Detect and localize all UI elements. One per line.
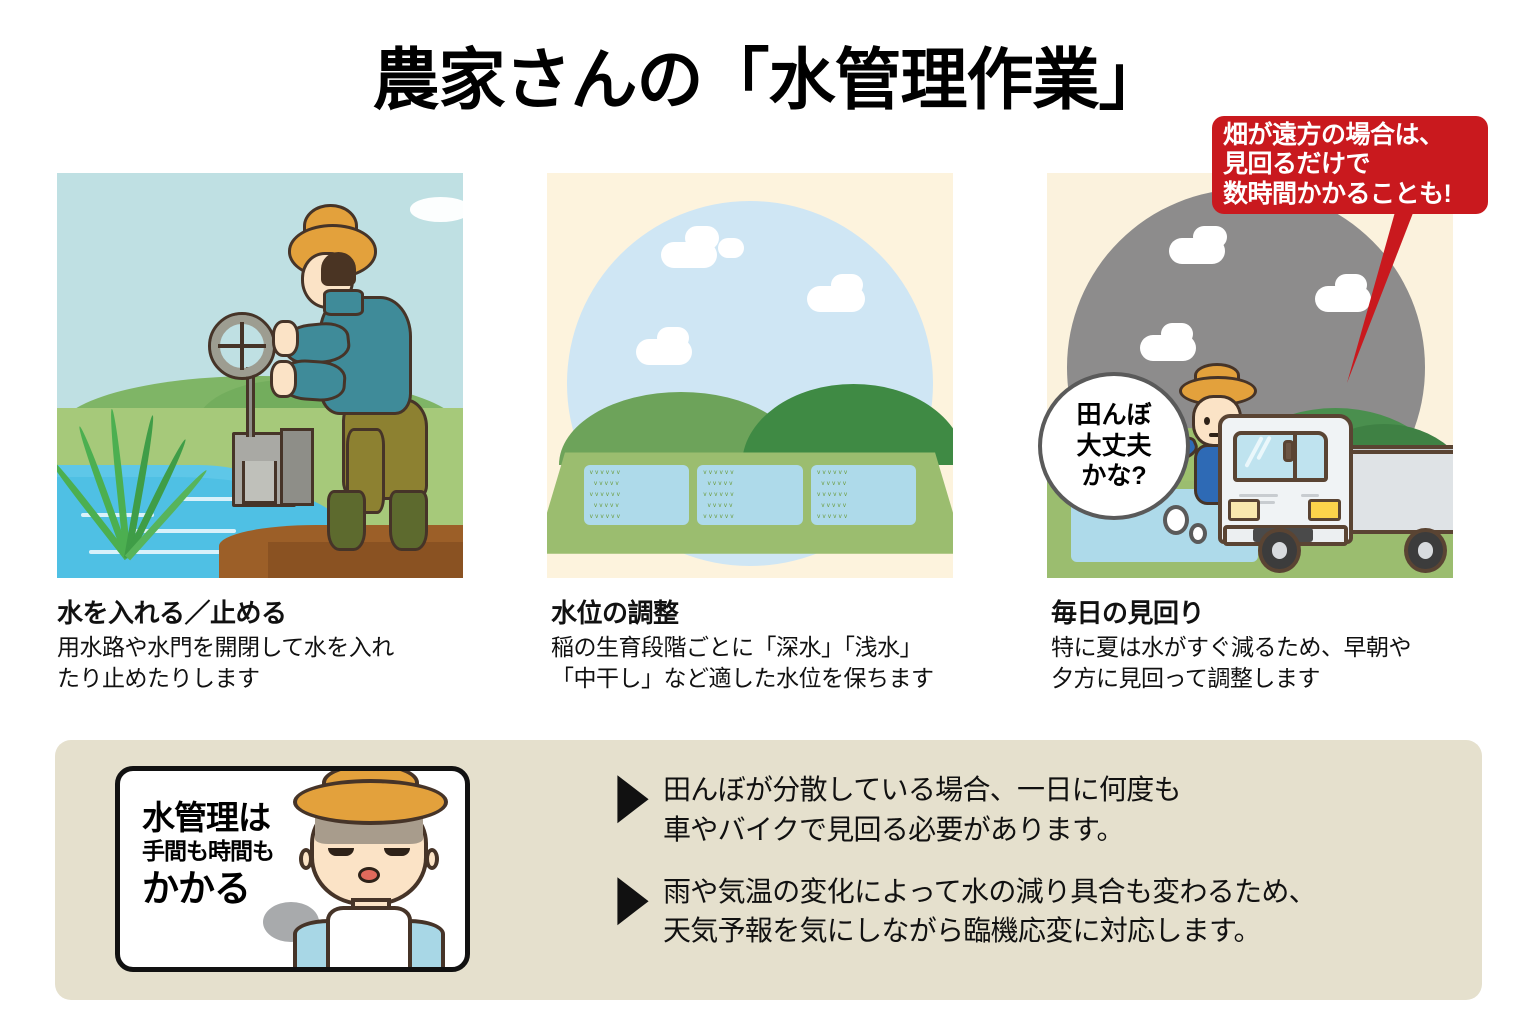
page-title: 農家さんの「水管理作業」 — [0, 44, 1537, 118]
caption-water-inlet: 水を入れる／止める 用水路や水門を開閉して水を入れ たり止めたりします — [57, 597, 487, 695]
paddy-plot: ᵛ ᵛ ᵛ ᵛ ᵛ ᵛ ᵛ ᵛ ᵛ ᵛ ᵛ ᵛ ᵛ ᵛ ᵛ ᵛ ᵛ ᵛ ᵛ ᵛ … — [584, 465, 690, 526]
cloud-icon — [657, 327, 689, 349]
thought-bubble: 田んぼ 大丈夫 かな? — [1038, 372, 1190, 520]
bottom-summary-panel: 水管理は 手間も時間も かかる — [55, 740, 1482, 1000]
bullet-text: 田んぼが分散している場合、一日に何度も 車やバイクで見回る必要があります。 — [663, 770, 1181, 850]
panel-image-water-inlet — [57, 173, 463, 578]
caption-body: 用水路や水門を開閉して水を入れ たり止めたりします — [57, 632, 487, 695]
triangle-right-icon — [615, 876, 651, 926]
cloud-icon — [685, 226, 719, 250]
thought-bubble-text: 田んぼ 大丈夫 かな? — [1076, 400, 1151, 492]
cloud-icon — [1161, 323, 1193, 345]
caption-daily-patrol: 毎日の見回り 特に夏は水がすぐ減るため、早朝や 夕方に見回って調整します — [1051, 597, 1481, 695]
infographic-root: 農家さんの「水管理作業」 — [0, 0, 1537, 1024]
callout-text: 畑が遠方の場合は、 見回るだけで 数時間かかることも! — [1223, 121, 1451, 210]
list-item: 田んぼが分散している場合、一日に何度も 車やバイクで見回る必要があります。 — [615, 770, 1455, 850]
caption-body: 特に夏は水がすぐ減るため、早朝や 夕方に見回って調整します — [1051, 632, 1481, 695]
caption-title: 水を入れる／止める — [57, 597, 487, 630]
thought-bubble-dot — [1189, 523, 1207, 544]
callout-remote-field: 畑が遠方の場合は、 見回るだけで 数時間かかることも! — [1212, 116, 1488, 214]
paddy-plot: ᵛ ᵛ ᵛ ᵛ ᵛ ᵛ ᵛ ᵛ ᵛ ᵛ ᵛ ᵛ ᵛ ᵛ ᵛ ᵛ ᵛ ᵛ ᵛ ᵛ … — [811, 465, 917, 526]
paddy-plot: ᵛ ᵛ ᵛ ᵛ ᵛ ᵛ ᵛ ᵛ ᵛ ᵛ ᵛ ᵛ ᵛ ᵛ ᵛ ᵛ ᵛ ᵛ ᵛ ᵛ … — [697, 465, 803, 526]
rice-plant-icon — [65, 376, 187, 558]
tired-farmer-illustration — [279, 769, 459, 972]
valve-wheel-icon — [211, 315, 273, 377]
bullet-text: 雨や気温の変化によって水の減り具合も変わるため、 天気予報を気にしながら臨機応変… — [663, 872, 1316, 952]
thought-bubble-dot — [1163, 505, 1189, 535]
cloud-icon — [1193, 226, 1227, 248]
caption-title: 水位の調整 — [551, 597, 981, 630]
cloud-icon — [718, 238, 744, 258]
list-item: 雨や気温の変化によって水の減り具合も変わるため、 天気予報を気にしながら臨機応変… — [615, 872, 1455, 952]
farmer-illustration — [268, 218, 463, 558]
caption-title: 毎日の見回り — [1051, 597, 1481, 630]
summary-label-box: 水管理は 手間も時間も かかる — [115, 766, 470, 972]
callout-pointer-icon — [1345, 205, 1415, 385]
caption-water-level: 水位の調整 稲の生育段階ごとに「深水」「浅水」 「中干し」など適した水位を保ちま… — [551, 597, 981, 695]
panel-image-water-level: ᵛ ᵛ ᵛ ᵛ ᵛ ᵛ ᵛ ᵛ ᵛ ᵛ ᵛ ᵛ ᵛ ᵛ ᵛ ᵛ ᵛ ᵛ ᵛ ᵛ … — [547, 173, 953, 578]
summary-bullet-list: 田んぼが分散している場合、一日に何度も 車やバイクで見回る必要があります。 雨や… — [615, 770, 1455, 973]
caption-body: 稲の生育段階ごとに「深水」「浅水」 「中干し」など適した水位を保ちます — [551, 632, 981, 695]
sluice-gate-stem — [246, 367, 255, 437]
triangle-right-icon — [615, 774, 651, 824]
cloud-icon — [831, 274, 863, 296]
kei-truck-illustration — [1218, 408, 1453, 570]
water-ripple-icon — [179, 497, 236, 501]
